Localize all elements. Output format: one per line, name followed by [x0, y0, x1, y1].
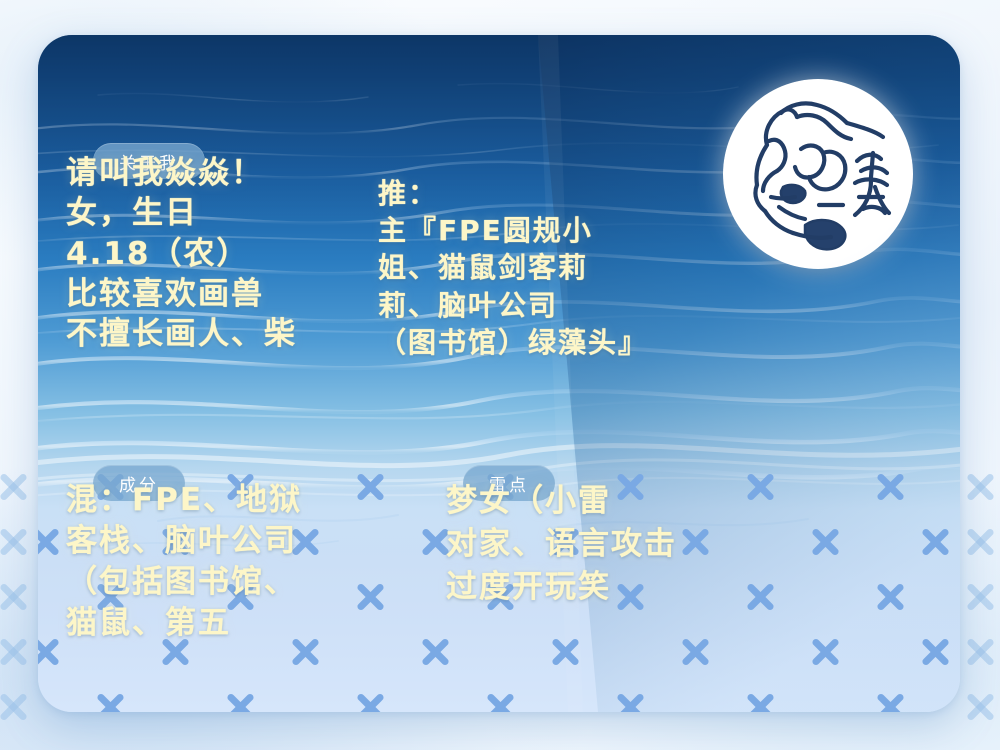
profile-card: 关于我 请叫我焱焱！ 女，生日 4.18（农） 比较喜欢画兽 不擅长画人、柴 推…: [38, 35, 960, 712]
x-decoration-icon: [963, 635, 997, 669]
x-decoration-icon: [963, 470, 997, 504]
squicks-text: 梦女（小雷 对家、语言攻击 过度开玩笑: [446, 480, 776, 608]
x-decoration-icon: [963, 580, 997, 614]
x-decoration-icon: [0, 525, 30, 559]
avatar[interactable]: [723, 79, 913, 269]
card-content: 关于我 请叫我焱焱！ 女，生日 4.18（农） 比较喜欢画兽 不擅长画人、柴 推…: [38, 35, 960, 712]
x-decoration-icon: [0, 580, 30, 614]
x-decoration-icon: [963, 525, 997, 559]
x-decoration-icon: [963, 690, 997, 724]
recommendations-text: 推： 主『FPE圆规小 姐、猫鼠剑客莉 莉、脑叶公司 （图书馆）绿藻头』: [378, 175, 708, 361]
about-text: 请叫我焱焱！ 女，生日 4.18（农） 比较喜欢画兽 不擅长画人、柴: [66, 153, 396, 354]
page-root: 关于我 请叫我焱焱！ 女，生日 4.18（农） 比较喜欢画兽 不擅长画人、柴 推…: [0, 0, 1000, 750]
x-decoration-icon: [0, 690, 30, 724]
x-decoration-icon: [0, 470, 30, 504]
x-decoration-icon: [0, 635, 30, 669]
components-text: 混：FPE、地狱 客栈、脑叶公司 （包括图书馆、 猫鼠、第五: [66, 480, 416, 644]
